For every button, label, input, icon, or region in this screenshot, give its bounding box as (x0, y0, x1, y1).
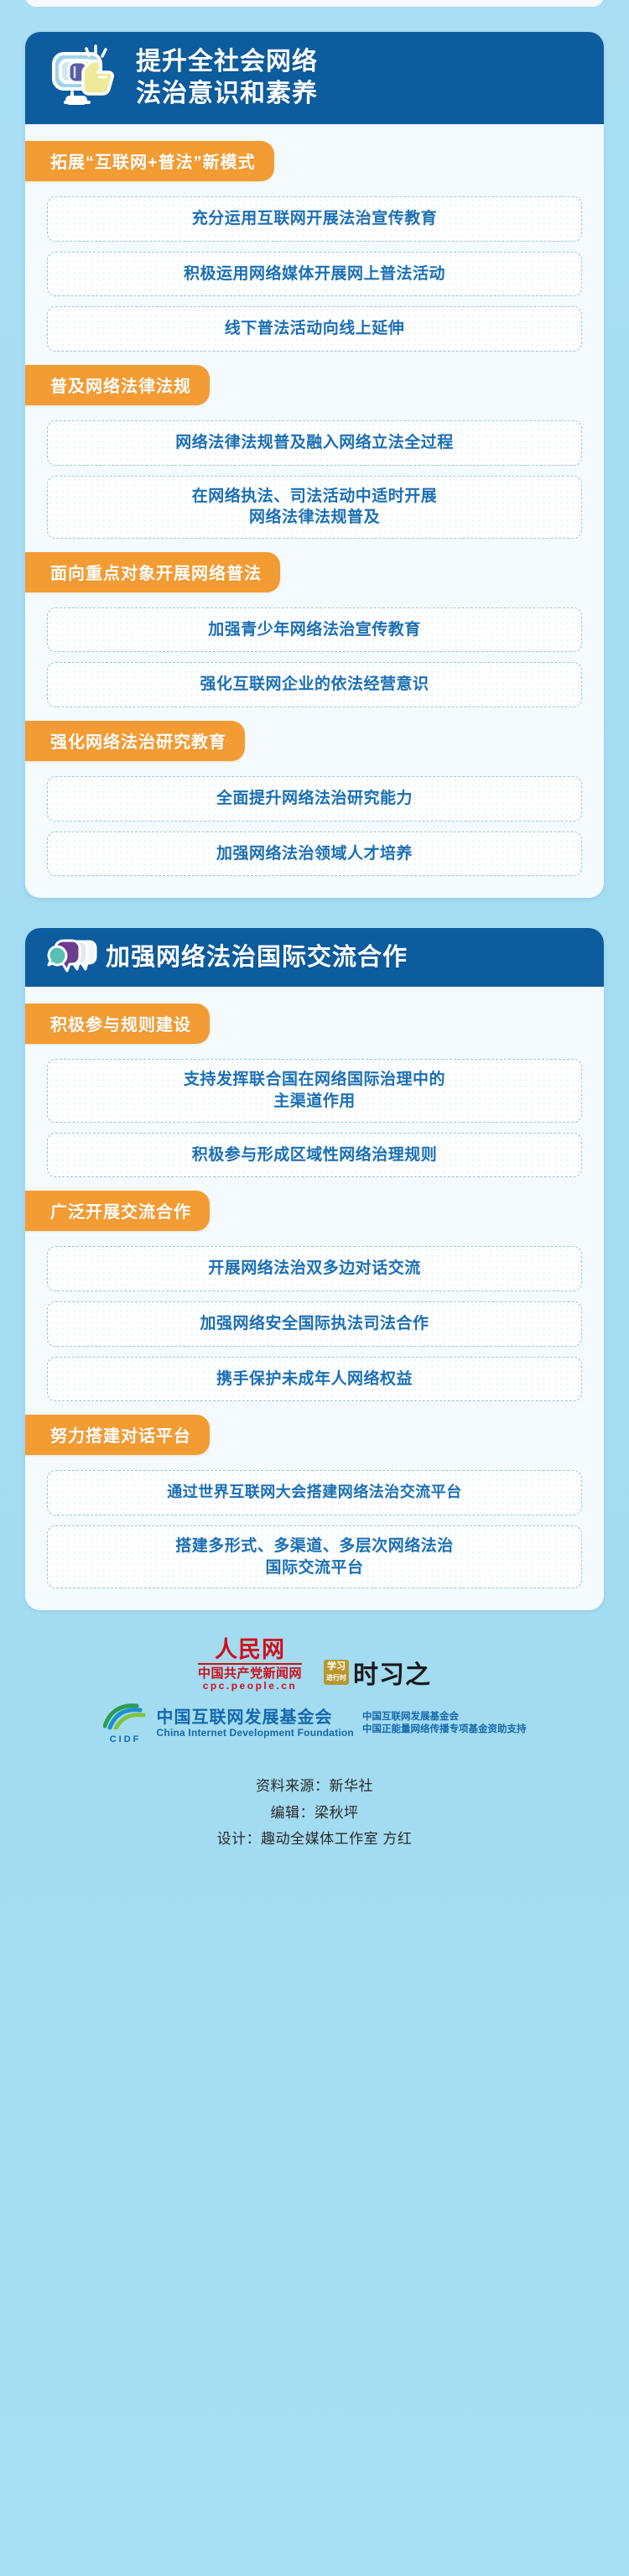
list-item-text: 通过世界互联网大会搭建网络法治交流平台 (167, 1484, 462, 1500)
shixizhi-badge-line-2: 进行时 (326, 1672, 346, 1683)
cidf-funding-note: 中国互联网发展基金会 中国正能量网络传播专项基金资助支持 (362, 1711, 527, 1737)
list-item: 在网络执法、司法活动中适时开展 网络法律法规普及 (47, 476, 582, 539)
card-2-title-line-1: 加强网络法治国际交流合作 (106, 942, 408, 973)
list-item: 线下普法活动向线上延伸 (47, 306, 582, 352)
people-cn-logo: 人民网 中国共产党新闻网 cpc.people.cn (198, 1639, 302, 1691)
card-2-body: 积极参与规则建设 支持发挥联合国在网络国际治理中的 主渠道作用 积极参与形成区域… (25, 987, 604, 1610)
footer-logo-row-primary: 人民网 中国共产党新闻网 cpc.people.cn 学习 进行时 时习之 (25, 1639, 604, 1691)
group-pill: 广泛开展交流合作 (25, 1191, 210, 1231)
list-item: 加强网络安全国际执法司法合作 (47, 1301, 582, 1347)
list-item-text: 加强网络安全国际执法司法合作 (200, 1315, 429, 1332)
list-item: 充分运用互联网开展法治宣传教育 (47, 196, 582, 242)
group-pill: 拓展“互联网+普法”新模式 (25, 141, 274, 181)
list-item-text: 搭建多形式、多渠道、多层次网络法治 国际交流平台 (175, 1537, 454, 1577)
card-gap (0, 898, 629, 928)
monitor-thumbs-up-icon (47, 44, 124, 112)
group-pill: 积极参与规则建设 (25, 1004, 210, 1044)
card-1-group-1: 拓展“互联网+普法”新模式 充分运用互联网开展法治宣传教育 积极运用网络媒体开展… (47, 139, 582, 352)
credit-editor: 编辑：梁秋坪 (25, 1800, 604, 1826)
list-item: 通过世界互联网大会搭建网络法治交流平台 (47, 1470, 582, 1515)
group-pill: 强化网络法治研究教育 (25, 721, 245, 761)
list-item-text: 在网络执法、司法活动中适时开展 网络法律法规普及 (192, 488, 438, 527)
cidf-en-name: China Internet Development Foundation (157, 1728, 354, 1739)
list-item: 全面提升网络法治研究能力 (47, 776, 582, 821)
cidf-logo-mark: CIDF (103, 1703, 148, 1744)
list-item-text: 网络法律法规普及融入网络立法全过程 (175, 434, 454, 451)
list-item: 开展网络法治双多边对话交流 (47, 1246, 582, 1291)
cidf-cn-name: 中国互联网发展基金会 (157, 1708, 354, 1728)
shixizhi-badge: 学习 进行时 (324, 1660, 349, 1685)
card-2-title: 加强网络法治国际交流合作 (106, 942, 408, 973)
card-section-2: 加强网络法治国际交流合作 积极参与规则建设 支持发挥联合国在网络国际治理中的 主… (25, 928, 604, 1610)
list-item-text: 支持发挥联合国在网络国际治理中的 主渠道作用 (184, 1071, 445, 1110)
list-item-text: 线下普法活动向线上延伸 (225, 320, 405, 337)
group-pill: 努力搭建对话平台 (25, 1415, 210, 1455)
card-2-group-3: 努力搭建对话平台 通过世界互联网大会搭建网络法治交流平台 搭建多形式、多渠道、多… (47, 1401, 582, 1588)
list-item: 网络法律法规普及融入网络立法全过程 (47, 420, 582, 466)
cidf-abbrev: CIDF (103, 1734, 148, 1744)
infographic-page: 提升全社会网络 法治意识和素养 拓展“互联网+普法”新模式 充分运用互联网开展法… (0, 0, 629, 2576)
credit-source: 资料来源：新华社 (25, 1773, 604, 1799)
funding-line-2: 中国正能量网络传播专项基金资助支持 (362, 1723, 527, 1737)
people-logo-title: 人民网 (198, 1639, 302, 1661)
list-item: 携手保护未成年人网络权益 (47, 1357, 582, 1402)
list-item: 加强青少年网络法治宣传教育 (47, 607, 582, 653)
footer-logo-row-secondary: CIDF 中国互联网发展基金会 China Internet Developme… (25, 1703, 604, 1744)
list-item-text: 强化互联网企业的依法经营意识 (200, 675, 429, 693)
card-1-title-line-2: 法治意识和素养 (136, 78, 318, 110)
card-1-body: 拓展“互联网+普法”新模式 充分运用互联网开展法治宣传教育 积极运用网络媒体开展… (25, 124, 604, 898)
card-2-group-1: 积极参与规则建设 支持发挥联合国在网络国际治理中的 主渠道作用 积极参与形成区域… (47, 1002, 582, 1177)
speech-bubbles-icon (47, 936, 99, 978)
cidf-names: 中国互联网发展基金会 China Internet Development Fo… (157, 1708, 354, 1739)
shixizhi-logo: 学习 进行时 时习之 (324, 1654, 431, 1691)
card-1-group-4: 强化网络法治研究教育 全面提升网络法治研究能力 加强网络法治领域人才培养 (47, 707, 582, 876)
people-logo-url: cpc.people.cn (198, 1681, 302, 1691)
cidf-swoosh-icon (103, 1703, 148, 1729)
previous-card-sliver (25, 0, 604, 7)
card-1-title: 提升全社会网络 法治意识和素养 (136, 46, 318, 111)
list-item: 搭建多形式、多渠道、多层次网络法治 国际交流平台 (47, 1525, 582, 1588)
credits-block: 资料来源：新华社 编辑：梁秋坪 设计：趣动全媒体工作室 方红 (25, 1773, 604, 1852)
card-2-header: 加强网络法治国际交流合作 (25, 928, 604, 987)
list-item-text: 开展网络法治双多边对话交流 (208, 1259, 421, 1277)
list-item-text: 加强青少年网络法治宣传教育 (208, 621, 421, 639)
list-item-text: 积极参与形成区域性网络治理规则 (192, 1146, 438, 1164)
list-item-text: 积极运用网络媒体开展网上普法活动 (184, 265, 445, 283)
footer: 人民网 中国共产党新闻网 cpc.people.cn 学习 进行时 时习之 (0, 1639, 629, 1852)
card-section-1: 提升全社会网络 法治意识和素养 拓展“互联网+普法”新模式 充分运用互联网开展法… (25, 32, 604, 898)
list-item: 支持发挥联合国在网络国际治理中的 主渠道作用 (47, 1059, 582, 1122)
list-item: 积极参与形成区域性网络治理规则 (47, 1133, 582, 1178)
people-logo-rule (198, 1663, 302, 1665)
list-item: 积极运用网络媒体开展网上普法活动 (47, 252, 582, 297)
card-2-group-2: 广泛开展交流合作 开展网络法治双多边对话交流 加强网络安全国际执法司法合作 携手… (47, 1177, 582, 1401)
list-item: 加强网络法治领域人才培养 (47, 832, 582, 877)
list-item: 强化互联网企业的依法经营意识 (47, 662, 582, 707)
card-1-group-2: 普及网络法律法规 网络法律法规普及融入网络立法全过程 在网络执法、司法活动中适时… (47, 352, 582, 539)
card-1-title-line-1: 提升全社会网络 (136, 46, 318, 78)
shixizhi-wordmark: 时习之 (353, 1654, 431, 1691)
funding-line-1: 中国互联网发展基金会 (362, 1711, 527, 1724)
card-1-group-3: 面向重点对象开展网络普法 加强青少年网络法治宣传教育 强化互联网企业的依法经营意… (47, 539, 582, 707)
group-pill: 普及网络法律法规 (25, 365, 210, 405)
shixizhi-badge-line-1: 学习 (327, 1661, 346, 1672)
card-1-header: 提升全社会网络 法治意识和素养 (25, 32, 604, 124)
list-item-text: 充分运用互联网开展法治宣传教育 (192, 210, 438, 227)
people-logo-subtitle: 中国共产党新闻网 (198, 1667, 302, 1680)
list-item-text: 全面提升网络法治研究能力 (216, 790, 413, 807)
list-item-text: 加强网络法治领域人才培养 (216, 845, 413, 863)
credit-designer: 设计：趣动全媒体工作室 方红 (25, 1826, 604, 1852)
group-pill: 面向重点对象开展网络普法 (25, 552, 280, 592)
list-item-text: 携手保护未成年人网络权益 (216, 1370, 413, 1388)
